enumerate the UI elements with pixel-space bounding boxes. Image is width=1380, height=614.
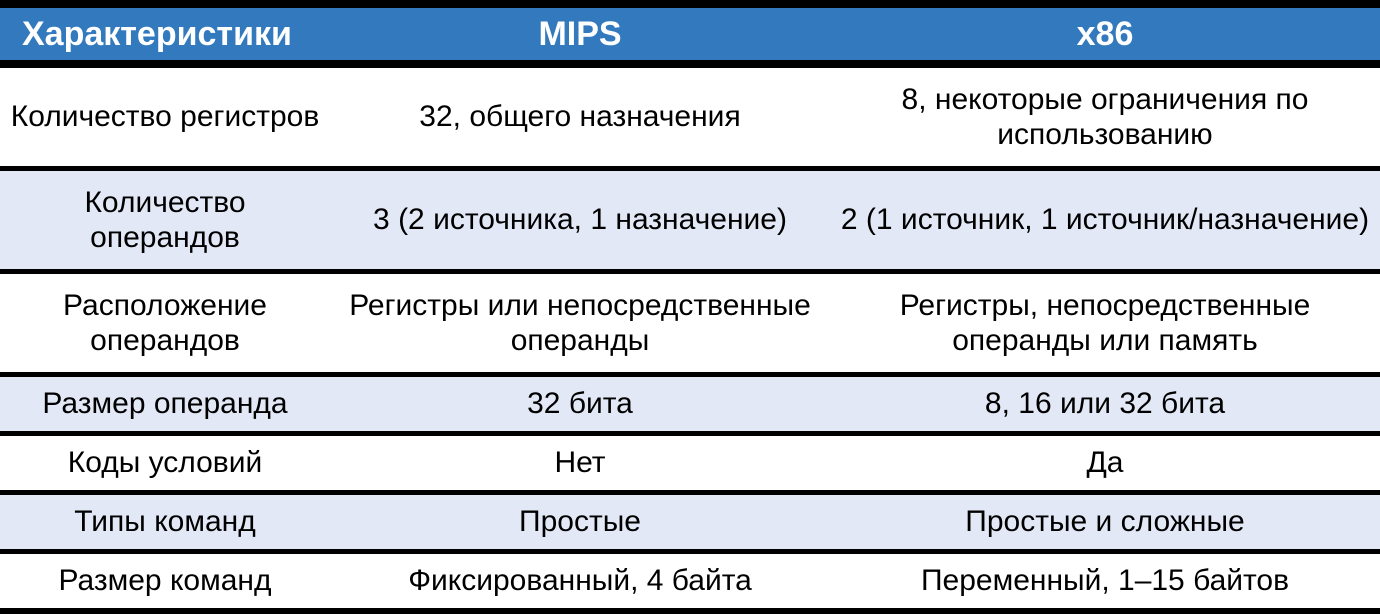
cell-mips: Простые	[330, 493, 830, 552]
table-row: Типы команд Простые Простые и сложные	[0, 493, 1380, 552]
cell-text: 3 (2 источника, 1 назначение)	[340, 202, 820, 237]
cell-mips: Фиксированный, 4 байта	[330, 552, 830, 612]
column-header-x86: x86	[830, 4, 1380, 64]
cell-text: Регистры или непосредственные операнды	[340, 288, 820, 358]
cell-feature: Коды условий	[0, 434, 330, 493]
table-row: Количество регистров 32, общего назначен…	[0, 64, 1380, 169]
cell-x86: 8, 16 или 32 бита	[830, 375, 1380, 434]
cell-mips: 32, общего назначения	[330, 64, 830, 169]
cell-feature: Количество регистров	[0, 64, 330, 169]
cell-text: Количество операндов	[10, 185, 320, 255]
cell-mips: Регистры или непосредственные операнды	[330, 272, 830, 375]
cell-text: Количество регистров	[10, 99, 320, 134]
cell-feature: Расположение операндов	[0, 272, 330, 375]
cell-text: 8, некоторые ограничения по использовани…	[840, 82, 1370, 152]
cell-text: Да	[840, 445, 1370, 480]
cell-mips: 32 бита	[330, 375, 830, 434]
cell-text: Коды условий	[10, 445, 320, 480]
cell-x86: Регистры, непосредственные операнды или …	[830, 272, 1380, 375]
cell-text: Переменный, 1–15 байтов	[840, 563, 1370, 598]
cell-text: 2 (1 источник, 1 источник/назначение)	[840, 202, 1370, 237]
comparison-table: Характеристики MIPS x86 Количество регис…	[0, 0, 1380, 614]
cell-text: 8, 16 или 32 бита	[840, 386, 1370, 421]
table-row: Размер команд Фиксированный, 4 байта Пер…	[0, 552, 1380, 612]
cell-feature: Размер команд	[0, 552, 330, 612]
cell-feature: Количество операндов	[0, 169, 330, 272]
column-header-mips: MIPS	[330, 4, 830, 64]
table-header-row: Характеристики MIPS x86	[0, 4, 1380, 64]
comparison-table-container: Характеристики MIPS x86 Количество регис…	[0, 0, 1380, 554]
table-row: Количество операндов 3 (2 источника, 1 н…	[0, 169, 1380, 272]
cell-feature: Типы команд	[0, 493, 330, 552]
cell-text: Простые и сложные	[840, 504, 1370, 539]
cell-text: 32 бита	[340, 386, 820, 421]
cell-feature: Размер операнда	[0, 375, 330, 434]
column-header-feature: Характеристики	[0, 4, 330, 64]
table-header: Характеристики MIPS x86	[0, 4, 1380, 64]
cell-x86: 2 (1 источник, 1 источник/назначение)	[830, 169, 1380, 272]
cell-x86: Да	[830, 434, 1380, 493]
table-row: Размер операнда 32 бита 8, 16 или 32 бит…	[0, 375, 1380, 434]
cell-x86: Простые и сложные	[830, 493, 1380, 552]
cell-text: Расположение операндов	[10, 288, 320, 358]
table-row: Коды условий Нет Да	[0, 434, 1380, 493]
cell-text: Регистры, непосредственные операнды или …	[840, 288, 1370, 358]
cell-mips: 3 (2 источника, 1 назначение)	[330, 169, 830, 272]
table-body: Количество регистров 32, общего назначен…	[0, 64, 1380, 611]
cell-text: Фиксированный, 4 байта	[340, 563, 820, 598]
cell-text: Размер операнда	[10, 386, 320, 421]
table-row: Расположение операндов Регистры или непо…	[0, 272, 1380, 375]
cell-mips: Нет	[330, 434, 830, 493]
cell-x86: Переменный, 1–15 байтов	[830, 552, 1380, 612]
cell-x86: 8, некоторые ограничения по использовани…	[830, 64, 1380, 169]
cell-text: Размер команд	[10, 563, 320, 598]
cell-text: Простые	[340, 504, 820, 539]
cell-text: 32, общего назначения	[340, 99, 820, 134]
cell-text: Типы команд	[10, 504, 320, 539]
cell-text: Нет	[340, 445, 820, 480]
